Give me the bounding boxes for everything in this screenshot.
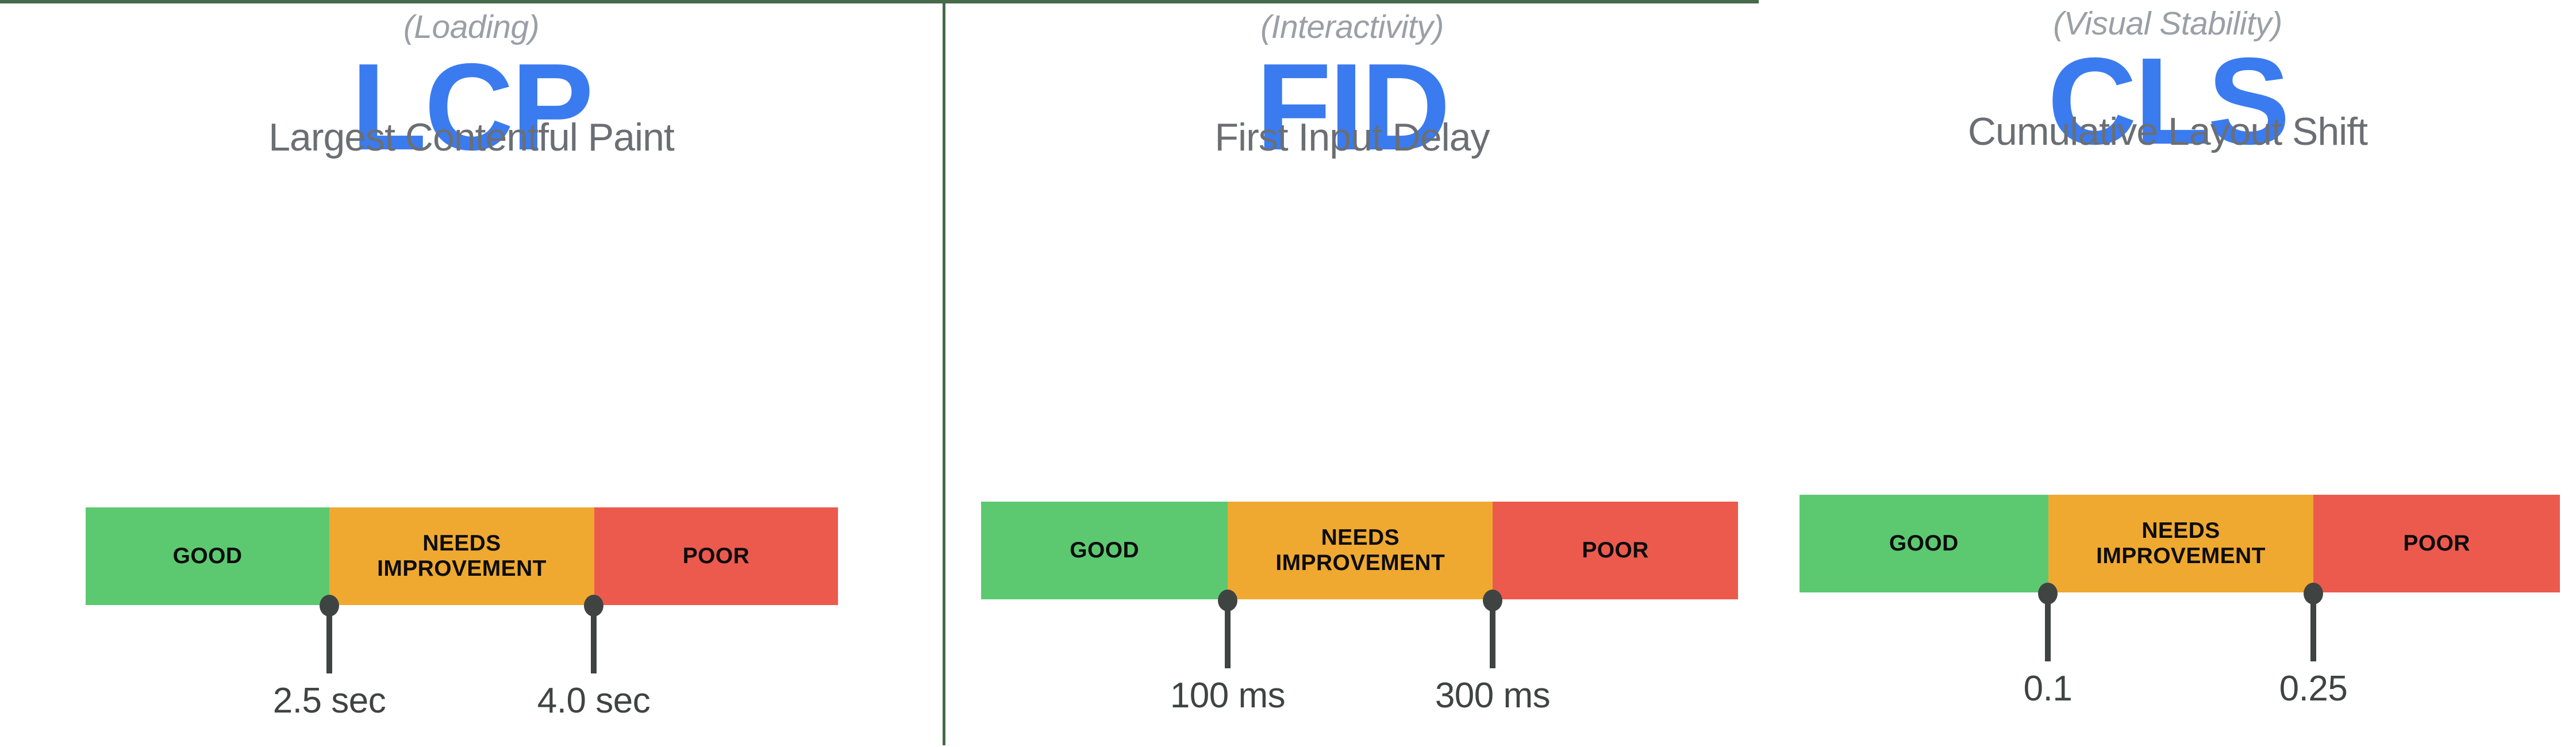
threshold-stem [2045, 597, 2051, 661]
threshold-stem [591, 609, 597, 673]
bar-segment-good-cls: GOOD [1800, 495, 2048, 592]
threshold-stem [1490, 604, 1495, 668]
threshold-label-lcp-2: 4.0 sec [421, 680, 766, 721]
bar-segment-needs-line1-lcp: NEEDS [422, 531, 501, 556]
threshold-stem [2310, 597, 2316, 661]
bar-segment-poor-fid: POOR [1493, 502, 1738, 599]
threshold-label-fid-2: 300 ms [1320, 675, 1665, 716]
bar-segment-needs-line1-cls: NEEDS [2141, 518, 2220, 543]
threshold-stem [1225, 604, 1231, 668]
threshold-stem [326, 609, 332, 673]
bar-segment-needs-improvement-fid: NEEDS IMPROVEMENT [1228, 502, 1493, 599]
core-web-vitals-infographic: (Loading) LCP Largest Contentful Paint G… [0, 0, 2576, 747]
metric-panel-cls: (Visual Stability) CLS Cumulative Layout… [1759, 0, 2576, 747]
metric-fullname-lcp: Largest Contentful Paint [0, 115, 943, 160]
metric-panel-fid: (Interactivity) FID First Input Delay GO… [945, 0, 1759, 747]
bar-segment-needs-line2-lcp: IMPROVEMENT [377, 556, 547, 581]
threshold-bar-fid: GOOD NEEDS IMPROVEMENT POOR [981, 502, 1738, 599]
metric-fullname-fid: First Input Delay [945, 115, 1759, 160]
threshold-label-cls-2: 0.25 [2141, 668, 2486, 709]
bar-segment-needs-line1-fid: NEEDS [1321, 525, 1400, 550]
bar-segment-needs-line2-cls: IMPROVEMENT [2096, 544, 2266, 568]
bar-segment-needs-line2-fid: IMPROVEMENT [1275, 550, 1445, 575]
bar-segment-poor-cls: POOR [2313, 495, 2560, 592]
bar-segment-good-fid: GOOD [981, 502, 1228, 599]
threshold-bar-lcp: GOOD NEEDS IMPROVEMENT POOR [86, 507, 838, 605]
bar-segment-needs-improvement-cls: NEEDS IMPROVEMENT [2048, 495, 2314, 592]
metric-fullname-cls: Cumulative Layout Shift [1759, 109, 2576, 154]
bar-segment-needs-improvement-lcp: NEEDS IMPROVEMENT [329, 507, 594, 605]
bar-segment-poor-lcp: POOR [594, 507, 838, 605]
metric-panel-lcp: (Loading) LCP Largest Contentful Paint G… [0, 0, 943, 747]
threshold-bar-cls: GOOD NEEDS IMPROVEMENT POOR [1800, 495, 2560, 592]
bar-segment-good-lcp: GOOD [86, 507, 329, 605]
